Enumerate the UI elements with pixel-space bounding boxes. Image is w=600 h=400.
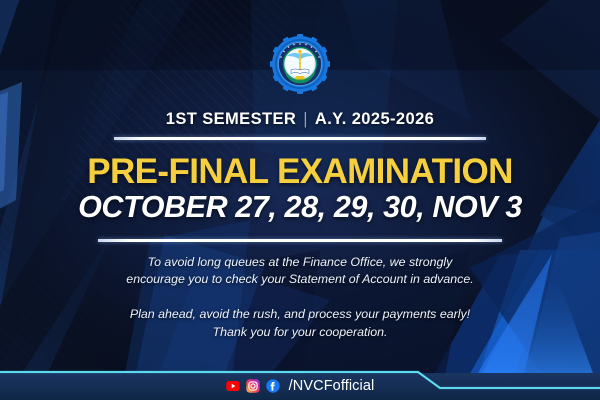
poster-content: 1ST SEMESTER|A.Y. 2025-2026 PRE-FINAL EX…: [0, 0, 600, 400]
body-text-block: To avoid long queues at the Finance Offi…: [125, 254, 475, 341]
youtube-icon[interactable]: [226, 379, 240, 393]
page-title: PRE-FINAL EXAMINATION: [87, 154, 513, 190]
social-links: /NVCFofficial: [0, 373, 600, 399]
divider-bottom: [98, 239, 502, 242]
announcement-poster: 1ST SEMESTER|A.Y. 2025-2026 PRE-FINAL EX…: [0, 0, 600, 400]
poster-footer: /NVCFofficial: [0, 371, 600, 400]
nvcf-school-seal-icon: [270, 34, 330, 94]
facebook-icon[interactable]: [266, 379, 280, 393]
divider-top: [114, 137, 486, 140]
semester-label: 1ST SEMESTER: [166, 110, 296, 128]
semester-kicker: 1ST SEMESTER|A.Y. 2025-2026: [166, 110, 434, 129]
kicker-separator: |: [303, 110, 308, 129]
institution-seal: [270, 34, 330, 94]
academic-year-label: A.Y. 2025-2026: [315, 110, 434, 128]
instagram-icon[interactable]: [246, 379, 260, 393]
social-handle[interactable]: /NVCFofficial: [289, 378, 375, 394]
divider-bottom-slot: [98, 239, 502, 242]
body-paragraph-1: To avoid long queues at the Finance Offi…: [125, 254, 475, 289]
body-paragraph-2: Plan ahead, avoid the rush, and process …: [125, 306, 475, 341]
exam-dates: OCTOBER 27, 28, 29, 30, NOV 3: [78, 191, 522, 223]
